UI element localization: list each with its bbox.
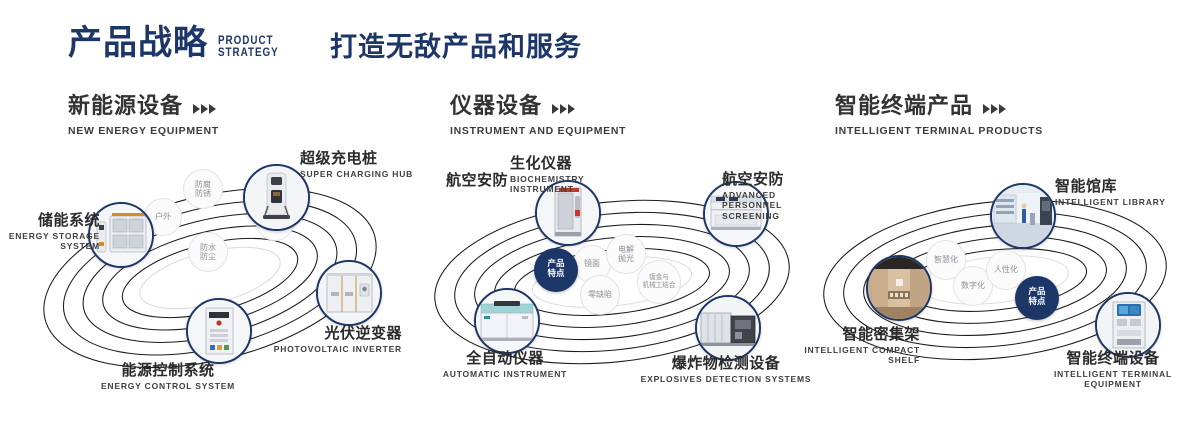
section-title-instrument: 仪器设备 INSTRUMENT AND EQUIPMENT bbox=[450, 96, 626, 137]
feature-bubble: 防水防尘 bbox=[188, 232, 228, 272]
library-room-art bbox=[992, 185, 1054, 247]
automatic-analyzer-art bbox=[476, 290, 538, 352]
explosives-detector-art bbox=[697, 297, 759, 359]
feature-bubble: 零缺陷 bbox=[580, 275, 620, 315]
section-title-cn: 智能终端产品 bbox=[835, 96, 973, 118]
node-energy-control bbox=[186, 298, 252, 364]
chevron-right-triple-icon bbox=[193, 104, 216, 114]
label-aviation-security-left: 航空安防 bbox=[398, 172, 508, 189]
page-title-en: PRODUCT STRATEGY bbox=[218, 34, 279, 58]
page-title-en-line2: STRATEGY bbox=[218, 46, 279, 58]
node-label-intelligent-terminal-equipment: 智能终端设备 INTELLIGENT TERMINAL EQUIPMENT bbox=[1026, 350, 1200, 390]
section-title-cn: 新能源设备 bbox=[68, 96, 183, 118]
section-title-new-energy: 新能源设备 NEW ENERGY EQUIPMENT bbox=[68, 96, 219, 137]
product-strategy-infographic: 产品战略 PRODUCT STRATEGY 打造无敌产品和服务 新能源设备 NE… bbox=[0, 0, 1200, 422]
page-title-cn: 产品战略 bbox=[68, 26, 208, 60]
node-label-energy-storage: 储能系统 ENERGY STORAGE SYSTEM bbox=[0, 212, 100, 252]
section-title-en: INTELLIGENT TERMINAL PRODUCTS bbox=[835, 125, 1043, 137]
inverter-cabinet-art bbox=[318, 262, 380, 324]
node-label-biochemistry-instrument: 生化仪器 BIOCHEMISTRY INSTRUMENT bbox=[510, 155, 584, 195]
node-intelligent-library bbox=[990, 183, 1056, 249]
section-title-en: INSTRUMENT AND EQUIPMENT bbox=[450, 125, 626, 137]
node-label-intelligent-compact-shelf: 智能密集架 INTELLIGENT COMPACT SHELF bbox=[790, 326, 920, 366]
section-title-intelligent-terminal: 智能终端产品 INTELLIGENT TERMINAL PRODUCTS bbox=[835, 96, 1043, 137]
section-title-cn: 仪器设备 bbox=[450, 96, 542, 118]
feature-bubble: 钣金与机械工结合 bbox=[637, 260, 681, 304]
node-intelligent-compact-shelf bbox=[866, 255, 932, 321]
chevron-right-triple-icon bbox=[552, 104, 575, 114]
node-label-photovoltaic-inverter: 光伏逆变器 PHOTOVOLTAIC INVERTER bbox=[260, 325, 402, 354]
section-title-en: NEW ENERGY EQUIPMENT bbox=[68, 125, 219, 137]
core-badge: 产品特点 bbox=[1015, 276, 1059, 320]
node-photovoltaic-inverter bbox=[316, 260, 382, 326]
core-badge: 产品特点 bbox=[534, 248, 578, 292]
node-explosives-detection bbox=[695, 295, 761, 361]
cluster-intelligent-terminal: 智慧化 数字化 人性化 产品特点 bbox=[790, 150, 1200, 420]
chevron-right-triple-icon bbox=[983, 104, 1006, 114]
node-label-charging-pile: 超级充电桩 SUPER CHARGING HUB bbox=[300, 150, 413, 179]
node-label-intelligent-library: 智能馆库 INTELLIGENT LIBRARY bbox=[1055, 178, 1166, 207]
cluster-new-energy: 防腐防锈 防水防尘 气密性 户外 产品特点 bbox=[0, 150, 420, 420]
page-title: 产品战略 PRODUCT STRATEGY bbox=[68, 26, 292, 60]
control-cabinet-art bbox=[188, 300, 250, 362]
compact-shelf-art bbox=[868, 257, 930, 319]
charging-pile-art bbox=[245, 166, 308, 229]
node-label-energy-control: 能源控制系统 ENERGY CONTROL SYSTEM bbox=[85, 362, 251, 391]
feature-bubble: 电解抛光 bbox=[606, 234, 646, 274]
node-automatic-instrument bbox=[474, 288, 540, 354]
page-subtitle: 打造无敌产品和服务 bbox=[330, 34, 582, 61]
kiosk-terminal-art bbox=[1097, 294, 1159, 356]
node-label-automatic-instrument: 全自动仪器 AUTOMATIC INSTRUMENT bbox=[422, 350, 588, 379]
cluster-instrument: 镜面 电解抛光 零缺陷 钣金与机械工结合 产品特点 bbox=[400, 150, 820, 420]
